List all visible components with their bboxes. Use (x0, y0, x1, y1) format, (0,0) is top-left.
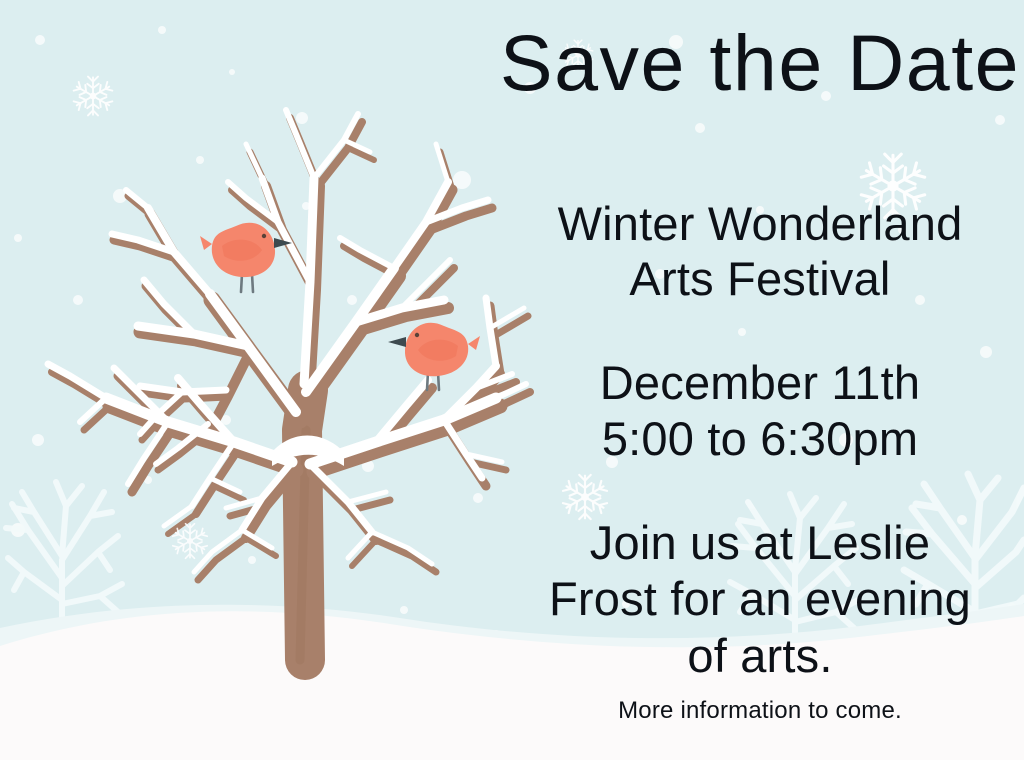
snowflake-mid-center (563, 475, 608, 519)
event-name: Winter Wonderland Arts Festival (496, 196, 1024, 307)
page-title: Save the Date (496, 22, 1024, 105)
event-invitation: Join us at Leslie Frost for an evening o… (496, 515, 1024, 684)
event-datetime: December 11th 5:00 to 6:30pm (496, 355, 1024, 468)
save-the-date-poster: Save the Date Winter Wonderland Arts Fes… (0, 0, 1024, 760)
snowflake-top-left (73, 77, 112, 116)
snowflake-mid-left (172, 524, 207, 559)
event-footnote: More information to come. (496, 697, 1024, 726)
